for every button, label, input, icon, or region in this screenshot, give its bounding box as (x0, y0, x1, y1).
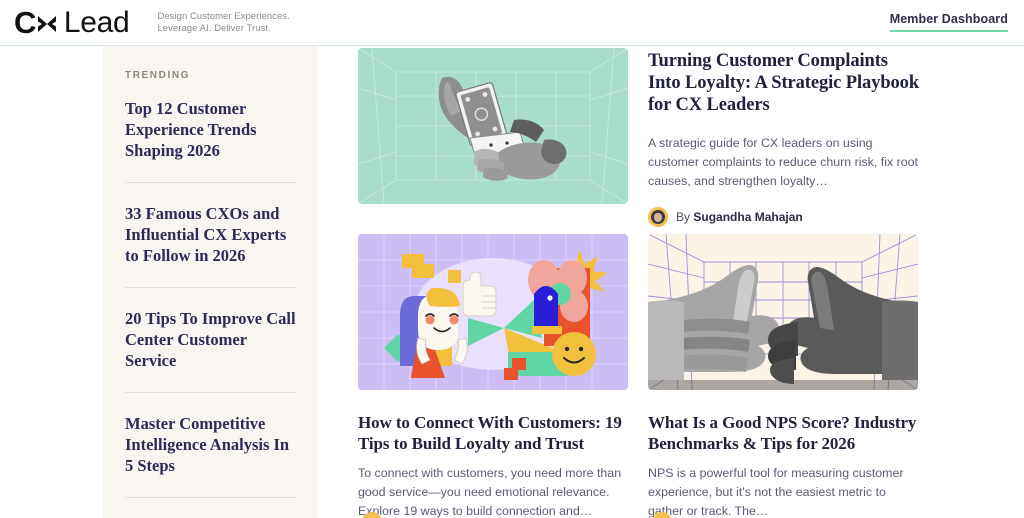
trending-sidebar: TRENDING Top 12 Customer Experience Tren… (103, 46, 318, 518)
member-dashboard-link[interactable]: Member Dashboard (890, 12, 1008, 32)
site-tagline: Design Customer Experiences. Leverage AI… (157, 11, 289, 35)
hero-article-image[interactable] (358, 48, 628, 204)
article-excerpt-connect: To connect with customers, you need more… (358, 464, 628, 518)
logo-word-lead: Lead (64, 6, 130, 40)
site-header: C Lead Design Customer Experiences. Leve… (0, 0, 1024, 46)
avatar (648, 207, 668, 227)
trending-item-2[interactable]: 33 Famous CXOs and Influential CX Expert… (125, 203, 296, 288)
x-bowtie-icon (36, 13, 58, 35)
byline-text: By Sugandha Mahajan (676, 210, 803, 224)
article-card-connect: How to Connect With Customers: 19 Tips t… (358, 232, 628, 518)
trending-label: TRENDING (125, 70, 296, 81)
article-image-connect[interactable] (358, 234, 628, 390)
tagline-line-2: Leverage AI. Deliver Trust. (157, 23, 289, 35)
hero-article-title[interactable]: Turning Customer Complaints Into Loyalty… (648, 50, 920, 116)
byline-prefix: By (676, 210, 690, 224)
hero-article-excerpt: A strategic guide for CX leaders on usin… (648, 134, 918, 191)
logo-letter-c: C (14, 7, 36, 38)
trending-item-3[interactable]: 20 Tips To Improve Call Center Customer … (125, 308, 296, 393)
article-excerpt-nps: NPS is a powerful tool for measuring cus… (648, 464, 918, 518)
trending-item-4[interactable]: Master Competitive Intelligence Analysis… (125, 413, 296, 498)
article-title-nps[interactable]: What Is a Good NPS Score? Industry Bench… (648, 412, 918, 454)
article-grid: Turning Customer Complaints Into Loyalty… (358, 46, 1024, 518)
trending-item-1[interactable]: Top 12 Customer Experience Trends Shapin… (125, 98, 296, 183)
article-image-nps[interactable] (648, 234, 918, 390)
site-logo[interactable]: C Lead (14, 6, 129, 40)
tagline-line-1: Design Customer Experiences. (157, 11, 289, 23)
author-name[interactable]: Sugandha Mahajan (693, 210, 802, 224)
hero-article-byline: By Sugandha Mahajan (648, 207, 803, 227)
page-root: C Lead Design Customer Experiences. Leve… (0, 0, 1024, 518)
article-title-connect[interactable]: How to Connect With Customers: 19 Tips t… (358, 412, 628, 454)
article-card-nps: What Is a Good NPS Score? Industry Bench… (648, 232, 918, 518)
